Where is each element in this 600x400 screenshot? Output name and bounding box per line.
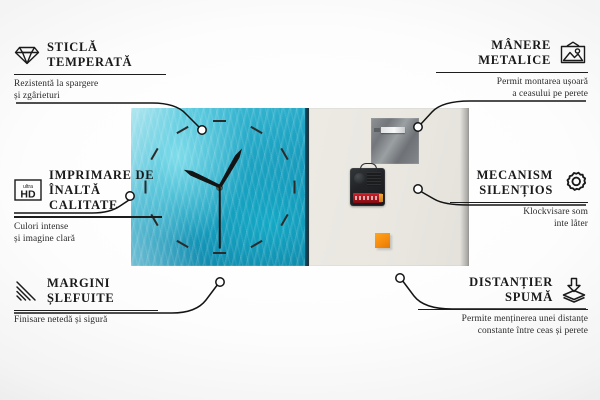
battery-label [355,196,377,200]
feature-subtitle-line2: și imagine clară [14,233,162,245]
feature-mecanism-silentios: MECANISM SILENȚIOS Klockvisare som inte … [450,168,588,230]
hanger-slot [381,127,405,133]
feature-divider [14,310,158,311]
clock-minute-hand [182,168,220,190]
foam-spacer [375,233,390,248]
clock-hour-hand [217,148,243,189]
feature-subtitle-line1: Finisare netedă și sigură [14,314,158,326]
clock-hour-mark [280,214,288,226]
feature-title: STICLĂ TEMPERATĂ [47,40,132,70]
clock-second-hand [219,187,221,249]
picture-hanger-icon [558,41,588,65]
feature-title: MARGINI ȘLEFUITE [47,276,114,306]
feature-title: MECANISM SILENȚIOS [477,168,553,198]
foam-spacer-icon [560,277,588,303]
feature-manere-metalice: MÂNERE METALICE Permit montarea ușoară a… [436,38,588,100]
clock-hour-mark [251,240,263,248]
polished-edge-icon [14,280,40,302]
clock-hour-mark [293,181,295,194]
feature-distantier-spuma: DISTANȚIER SPUMĂ Permite menținerea unei… [418,275,588,337]
feature-margini-slefuite: MARGINI ȘLEFUITE Finisare netedă și sigu… [14,276,158,326]
clock-back-panel [309,108,469,266]
ultra-hd-icon: ultra HD [14,179,42,201]
feature-title: IMPRIMARE DE ÎNALTĂ CALITATE [49,168,162,212]
mechanism-dial [354,173,365,184]
feature-header: MECANISM SILENȚIOS [450,168,588,198]
clock-hour-mark [176,126,188,134]
clock-hour-mark [213,252,226,254]
connector-dot-3 [216,278,224,286]
clock-hour-mark [213,120,226,122]
feature-divider [450,202,588,203]
feature-subtitle-line2: constante între ceas și perete [418,325,588,337]
feature-sticla-temperata: STICLĂ TEMPERATĂ Rezistentă la spargere … [14,40,166,102]
feature-imprimare-inalta-calitate: ultra HD IMPRIMARE DE ÎNALTĂ CALITATE Cu… [14,168,162,245]
feature-header: MÂNERE METALICE [436,38,588,68]
feature-header: MARGINI ȘLEFUITE [14,276,158,306]
clock-hour-mark [280,148,288,160]
feature-header: STICLĂ TEMPERATĂ [14,40,166,70]
feature-subtitle-line1: Permit montarea ușoară [436,76,588,88]
metal-hanger-plate [371,118,419,164]
product-photo [131,108,469,266]
diamond-icon [14,44,40,66]
ultra-hd-icon-main: HD [20,189,36,201]
feature-subtitle-line2: și zgârieturi [14,90,166,102]
connector-dot-6 [396,274,404,282]
clock-hour-mark [151,148,159,160]
feature-divider [436,72,588,73]
mechanism-ridges [367,172,381,186]
feature-subtitle-line2: inte låter [450,218,588,230]
feature-header: DISTANȚIER SPUMĂ [418,275,588,305]
feature-title: DISTANȚIER SPUMĂ [469,275,553,305]
feature-subtitle-line1: Klockvisare som [450,206,588,218]
feature-subtitle-line1: Culori intense [14,221,162,233]
battery [353,193,382,203]
feature-divider [418,309,588,310]
feature-title: MÂNERE METALICE [478,38,551,68]
feature-subtitle-line1: Permite menținerea unei distanțe [418,313,588,325]
feature-header: ultra HD IMPRIMARE DE ÎNALTĂ CALITATE [14,168,162,212]
gear-icon [560,170,588,196]
feature-divider [14,216,162,217]
clock-hour-mark [251,126,263,134]
feature-subtitle-line2: a ceasului pe perete [436,88,588,100]
clock-hour-mark [176,240,188,248]
feature-divider [14,74,166,75]
infographic-canvas: STICLĂ TEMPERATĂ Rezistentă la spargere … [0,0,600,400]
feature-subtitle-line1: Rezistentă la spargere [14,78,166,90]
clock-mechanism [350,168,385,206]
mechanism-hook [360,163,377,171]
